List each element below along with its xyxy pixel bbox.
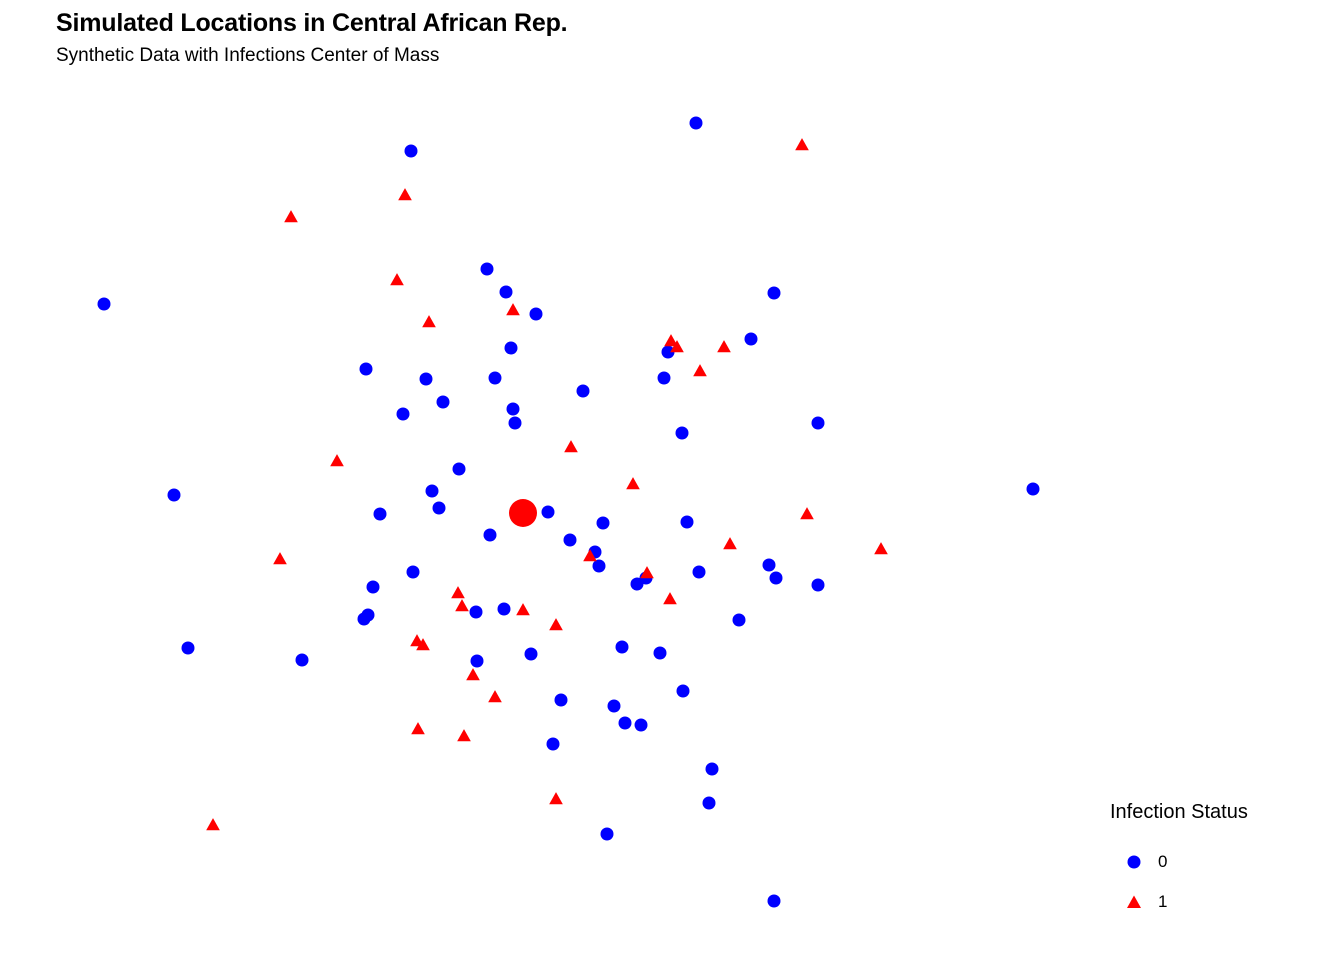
data-point-circle	[593, 560, 606, 573]
data-point-triangle	[693, 364, 707, 376]
data-point-circle	[635, 719, 648, 732]
data-point-triangle	[206, 818, 220, 830]
data-point-triangle	[795, 138, 809, 150]
data-point-circle	[677, 685, 690, 698]
scatter-plot-figure: Simulated Locations in Central African R…	[0, 0, 1344, 960]
data-point-triangle	[564, 440, 578, 452]
legend-rows: 0 1	[1110, 842, 1330, 922]
data-point-triangle	[549, 792, 563, 804]
data-point-circle	[577, 385, 590, 398]
data-point-circle	[437, 396, 450, 409]
data-point-circle	[397, 408, 410, 421]
data-point-triangle	[466, 668, 480, 680]
data-point-circle	[453, 463, 466, 476]
data-point-triangle	[330, 454, 344, 466]
legend-label-1: 1	[1158, 892, 1167, 912]
data-point-circle	[426, 485, 439, 498]
data-point-triangle	[457, 729, 471, 741]
legend-title: Infection Status	[1110, 800, 1330, 824]
center-of-mass-marker	[509, 499, 537, 527]
data-point-circle	[564, 534, 577, 547]
data-point-triangle	[273, 552, 287, 564]
data-point-triangle	[549, 618, 563, 630]
data-point-circle	[768, 287, 781, 300]
series-uninfected-points	[98, 117, 1040, 908]
data-point-triangle	[284, 210, 298, 222]
legend-label-0: 0	[1158, 852, 1167, 872]
data-point-circle	[470, 606, 483, 619]
series-infected-points	[206, 138, 888, 830]
data-point-circle	[420, 373, 433, 386]
data-point-triangle	[455, 599, 469, 611]
data-point-triangle	[390, 273, 404, 285]
data-point-circle	[706, 763, 719, 776]
data-point-circle	[509, 417, 522, 430]
data-point-circle	[597, 517, 610, 530]
data-point-circle	[690, 117, 703, 130]
data-point-circle	[601, 828, 614, 841]
data-point-circle	[555, 694, 568, 707]
data-point-circle	[703, 797, 716, 810]
data-point-circle	[405, 145, 418, 158]
data-point-circle	[770, 572, 783, 585]
data-point-triangle	[663, 592, 677, 604]
data-point-circle	[693, 566, 706, 579]
data-point-circle	[681, 516, 694, 529]
data-point-circle	[367, 581, 380, 594]
data-point-circle	[484, 529, 497, 542]
data-point-triangle	[398, 188, 412, 200]
data-point-circle	[763, 559, 776, 572]
data-point-circle	[360, 363, 373, 376]
data-point-circle	[547, 738, 560, 751]
data-point-circle	[812, 579, 825, 592]
data-point-circle	[745, 333, 758, 346]
data-point-circle	[500, 286, 513, 299]
data-point-circle	[631, 578, 644, 591]
triangle-icon	[1110, 892, 1158, 912]
data-point-circle	[768, 895, 781, 908]
data-point-triangle	[723, 537, 737, 549]
data-point-circle	[182, 642, 195, 655]
data-point-circle	[676, 427, 689, 440]
data-point-circle	[296, 654, 309, 667]
data-point-circle	[168, 489, 181, 502]
data-point-circle	[542, 506, 555, 519]
data-point-triangle	[516, 603, 530, 615]
data-point-circle	[362, 609, 375, 622]
data-point-circle	[812, 417, 825, 430]
data-point-triangle	[626, 477, 640, 489]
data-point-circle	[733, 614, 746, 627]
data-point-circle	[481, 263, 494, 276]
legend: Infection Status 0 1	[1110, 800, 1330, 922]
circle-icon	[1110, 852, 1158, 872]
data-point-circle	[507, 403, 520, 416]
data-point-circle	[98, 298, 111, 311]
data-point-circle	[407, 566, 420, 579]
data-point-circle	[525, 648, 538, 661]
data-point-circle	[530, 308, 543, 321]
data-point-triangle	[451, 586, 465, 598]
data-point-triangle	[717, 340, 731, 352]
data-point-circle	[619, 717, 632, 730]
data-point-circle	[471, 655, 484, 668]
data-point-triangle	[640, 566, 654, 578]
data-point-circle	[505, 342, 518, 355]
data-point-circle	[374, 508, 387, 521]
data-point-circle	[654, 647, 667, 660]
legend-row-0[interactable]: 0	[1110, 842, 1330, 882]
data-point-triangle	[506, 303, 520, 315]
data-point-circle	[489, 372, 502, 385]
data-point-triangle	[800, 507, 814, 519]
data-point-triangle	[422, 315, 436, 327]
data-point-circle	[433, 502, 446, 515]
data-point-circle	[608, 700, 621, 713]
center-of-mass-point	[509, 499, 537, 527]
data-point-circle	[1027, 483, 1040, 496]
data-point-triangle	[488, 690, 502, 702]
legend-row-1[interactable]: 1	[1110, 882, 1330, 922]
data-point-triangle	[411, 722, 425, 734]
data-point-circle	[658, 372, 671, 385]
data-point-circle	[616, 641, 629, 654]
data-point-circle	[498, 603, 511, 616]
data-point-triangle	[874, 542, 888, 554]
